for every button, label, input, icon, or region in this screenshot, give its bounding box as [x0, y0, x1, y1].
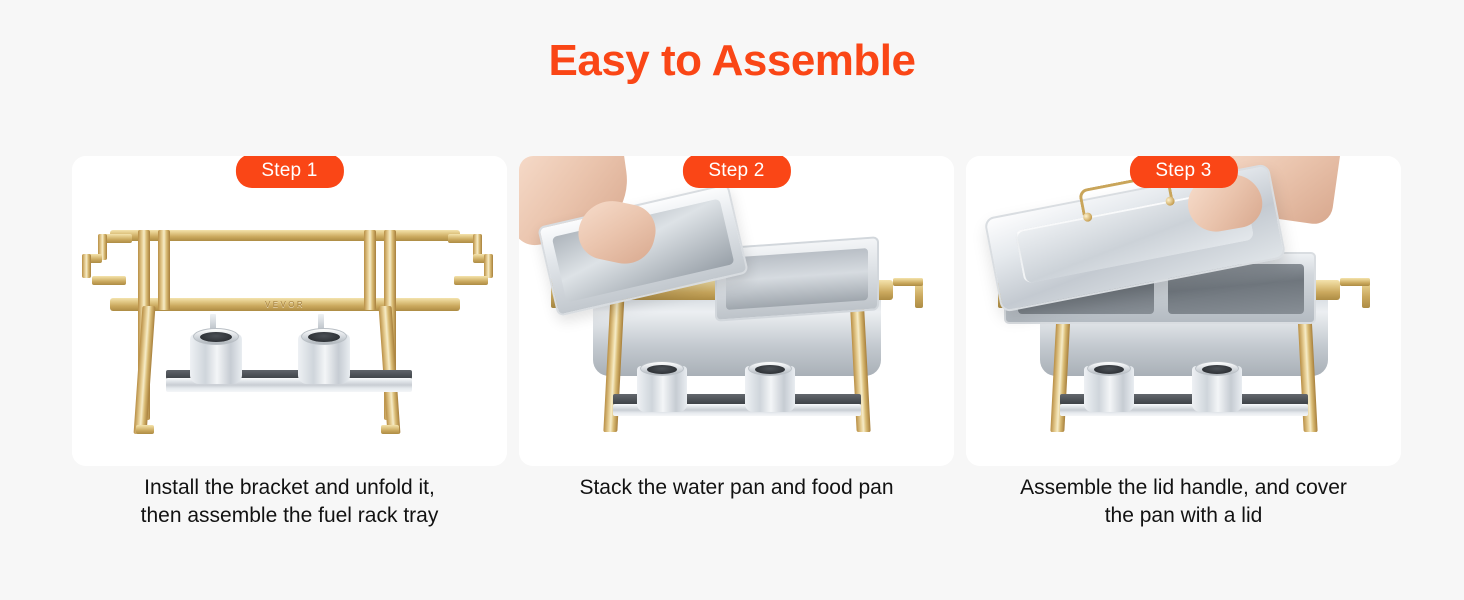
fuel-cup-left-3: [1084, 366, 1134, 412]
step-badge-1: Step 1: [235, 156, 343, 188]
fuel-cup-right: [298, 334, 350, 384]
step-2-illustration: VEVOR: [519, 156, 954, 466]
fuel-cup-left-2: [637, 366, 687, 412]
page-title: Easy to Assemble: [0, 36, 1464, 86]
bracket-post-right-inner: [364, 230, 376, 310]
step-card-2[interactable]: VEVOR: [519, 156, 954, 466]
bracket-handle-right: [448, 234, 498, 308]
step-card-1[interactable]: VEVOR: [72, 156, 507, 466]
step-card-3[interactable]: VEVOR: [966, 156, 1401, 466]
base-handle-right: [889, 274, 923, 308]
step-caption-1: Install the bracket and unfold it, then …: [72, 474, 507, 530]
base-handle-right-3: [1336, 274, 1370, 308]
steps-gallery: VEVOR: [72, 156, 1392, 466]
step-1-illustration: VEVOR: [72, 156, 507, 466]
step-badge-3: Step 3: [1129, 156, 1237, 188]
step-caption-3: Assemble the lid handle, and cover the p…: [966, 474, 1401, 530]
step-badge-2: Step 2: [682, 156, 790, 188]
bracket-handle-left: [82, 234, 132, 308]
captions-row: Install the bracket and unfold it, then …: [72, 474, 1392, 530]
fuel-cup-right-3: [1192, 366, 1242, 412]
step-3-illustration: VEVOR: [966, 156, 1401, 466]
step-caption-2: Stack the water pan and food pan: [519, 474, 954, 530]
fuel-cup-left: [190, 334, 242, 384]
bracket-post-left-inner: [158, 230, 170, 310]
fuel-cup-right-2: [745, 366, 795, 412]
